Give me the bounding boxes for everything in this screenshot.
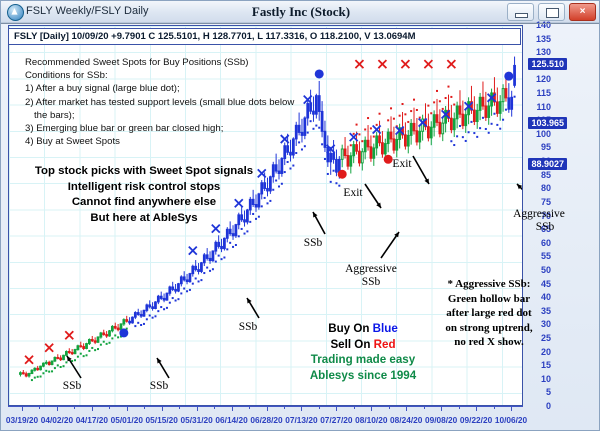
price-marker-badge: 125.510 — [528, 58, 567, 70]
x-tick-label: 07/27/20 — [320, 415, 352, 425]
x-tick-mark — [267, 406, 268, 411]
y-tick-label: 115 — [536, 88, 551, 98]
x-tick-label: 06/14/20 — [215, 415, 247, 425]
y-tick-label: 75 — [541, 197, 551, 207]
axis-baseline — [8, 406, 523, 407]
buy-sell-legend: Buy On Blue Sell On Red Trading made eas… — [288, 321, 438, 383]
y-tick-label: 130 — [536, 47, 551, 57]
x-minor-tick — [424, 406, 425, 409]
condition-item-2: 2) After market has tested support level… — [25, 96, 294, 109]
x-tick-label: 06/28/20 — [250, 415, 282, 425]
x-tick-mark — [57, 406, 58, 411]
x-tick-label: 05/31/20 — [180, 415, 212, 425]
x-tick-mark — [127, 406, 128, 411]
x-tick-label: 05/15/20 — [146, 415, 178, 425]
x-minor-tick — [494, 406, 495, 409]
aggressive-ssb-note: * Aggressive SSb: Green hollow bar after… — [429, 277, 549, 350]
chart-annotation-label: Exit — [343, 187, 362, 199]
pitch-line-2: Intelligent risk control stops — [19, 180, 269, 196]
y-tick-label: 120 — [536, 74, 551, 84]
y-tick-label: 60 — [541, 238, 551, 248]
x-tick-mark — [336, 406, 337, 411]
x-tick-label: 10/06/20 — [495, 415, 527, 425]
window-controls: × — [507, 3, 596, 21]
y-tick-label: 55 — [541, 251, 551, 261]
buy-on-blue-line: Buy On Blue — [288, 321, 438, 337]
sell-color-word: Red — [374, 338, 396, 351]
chart-annotation-label: SSb — [239, 321, 258, 333]
window-bottom-divider — [1, 23, 600, 24]
x-minor-tick — [109, 406, 110, 409]
chart-annotation-label: Aggressive — [513, 208, 565, 220]
x-tick-label: 05/01/20 — [111, 415, 143, 425]
condition-item-2-cont: the bars); — [25, 109, 294, 122]
price-marker-badge: 88.9027 — [528, 158, 567, 170]
x-tick-mark — [441, 406, 442, 411]
x-tick-mark — [162, 406, 163, 411]
x-minor-tick — [459, 406, 460, 409]
minimize-button[interactable] — [507, 3, 534, 21]
chart-annotation-label: Aggressive — [345, 263, 397, 275]
condition-item-4: 4) Buy at Sweet Spots — [25, 135, 294, 148]
date-axis: 03/19/2004/02/2004/17/2005/01/2005/15/20… — [8, 406, 523, 430]
y-tick-label: 15 — [541, 360, 551, 370]
close-icon: × — [578, 7, 587, 16]
pitch-line-4: But here at AbleSys — [19, 211, 269, 227]
note-line-4: on strong uptrend, — [429, 321, 549, 336]
x-tick-label: 07/13/20 — [285, 415, 317, 425]
x-tick-mark — [92, 406, 93, 411]
x-minor-tick — [214, 406, 215, 409]
pitch-text-block: Top stock picks with Sweet Spot signals … — [19, 164, 269, 226]
tagline-1: Trading made easy — [288, 352, 438, 368]
sell-on-red-line: Sell On Red — [288, 337, 438, 353]
y-tick-label: 85 — [541, 170, 551, 180]
conditions-heading: Recommended Sweet Spots for Buy Position… — [25, 56, 294, 69]
x-minor-tick — [179, 406, 180, 409]
x-tick-mark — [197, 406, 198, 411]
note-line-3: after large red dot — [429, 306, 549, 321]
x-tick-label: 04/17/20 — [76, 415, 108, 425]
y-tick-label: 140 — [536, 20, 551, 30]
note-line-1: * Aggressive SSb: — [429, 277, 549, 292]
y-tick-label: 5 — [546, 387, 551, 397]
chart-annotation-label: SSb — [150, 380, 169, 392]
buy-prefix: Buy On — [328, 322, 372, 335]
close-button[interactable]: × — [569, 3, 596, 21]
x-tick-mark — [476, 406, 477, 411]
title-bar: FSLY Weekly/FSLY Daily Fastly Inc (Stock… — [1, 1, 600, 23]
buy-color-word: Blue — [373, 322, 398, 335]
pitch-line-3: Cannot find anywhere else — [19, 195, 269, 211]
chart-annotation-label: SSb — [63, 380, 82, 392]
y-tick-label: 95 — [541, 142, 551, 152]
x-minor-tick — [354, 406, 355, 409]
price-marker-badge: 103.965 — [528, 117, 567, 129]
conditions-subheading: Conditions for SSb: — [25, 69, 294, 82]
x-tick-label: 09/08/20 — [425, 415, 457, 425]
chart-annotation-label: SSb — [536, 221, 555, 233]
y-tick-label: 50 — [541, 265, 551, 275]
tagline-2: Ablesys since 1994 — [288, 368, 438, 384]
y-tick-label: 110 — [536, 102, 551, 112]
chart-annotation-label: Exit — [392, 158, 411, 170]
pitch-line-1: Top stock picks with Sweet Spot signals — [19, 164, 269, 180]
quote-status-line: FSLY [Daily] 10/09/20 +9.7901 C 125.5101… — [8, 28, 521, 45]
chart-annotation-label: SSb — [304, 237, 323, 249]
condition-item-3: 3) Emerging blue bar or green bar closed… — [25, 122, 294, 135]
note-line-2: Green hollow bar — [429, 292, 549, 307]
x-minor-tick — [284, 406, 285, 409]
y-tick-label: 10 — [541, 374, 551, 384]
x-minor-tick — [144, 406, 145, 409]
note-line-5: no red X show. — [429, 335, 549, 350]
x-minor-tick — [74, 406, 75, 409]
x-tick-label: 03/19/20 — [6, 415, 38, 425]
x-tick-mark — [22, 406, 23, 411]
condition-item-1: 1) After a buy signal (large blue dot); — [25, 82, 294, 95]
y-tick-label: 135 — [536, 34, 551, 44]
x-tick-label: 09/22/20 — [460, 415, 492, 425]
x-tick-mark — [371, 406, 372, 411]
chart-window: FSLY Weekly/FSLY Daily Fastly Inc (Stock… — [0, 0, 600, 431]
x-tick-mark — [232, 406, 233, 411]
y-tick-label: 100 — [536, 129, 551, 139]
x-minor-tick — [39, 406, 40, 409]
restore-button[interactable] — [538, 3, 565, 21]
x-tick-label: 08/10/20 — [355, 415, 387, 425]
x-minor-tick — [389, 406, 390, 409]
conditions-text-block: Recommended Sweet Spots for Buy Position… — [25, 56, 294, 148]
x-minor-tick — [249, 406, 250, 409]
x-minor-tick — [319, 406, 320, 409]
x-tick-mark — [406, 406, 407, 411]
y-tick-label: 80 — [541, 183, 551, 193]
x-tick-mark — [301, 406, 302, 411]
x-tick-mark — [511, 406, 512, 411]
x-tick-label: 08/24/20 — [390, 415, 422, 425]
x-tick-label: 04/02/20 — [41, 415, 73, 425]
y-tick-label: 0 — [546, 401, 551, 411]
sell-prefix: Sell On — [330, 338, 373, 351]
chart-annotation-label: SSb — [362, 276, 381, 288]
